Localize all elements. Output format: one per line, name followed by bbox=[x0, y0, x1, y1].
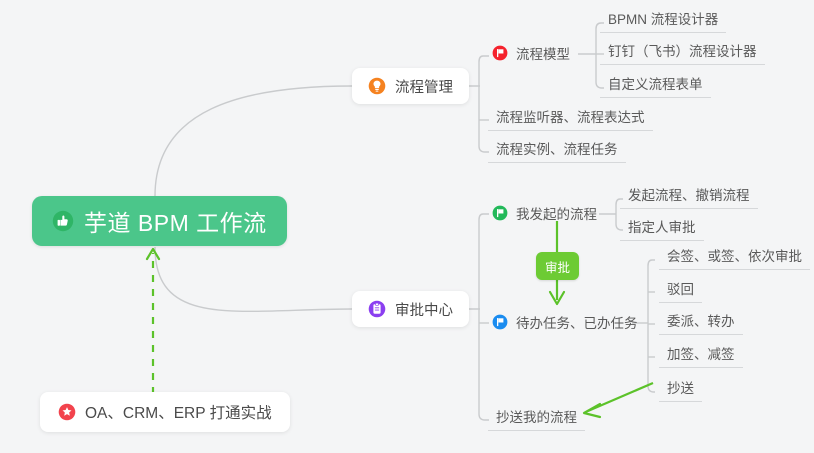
branch-node-process-management[interactable]: 流程管理 bbox=[352, 68, 469, 104]
star-icon bbox=[58, 403, 76, 421]
standalone-node-label: OA、CRM、ERP 打通实战 bbox=[85, 401, 272, 423]
node-todo-done-task[interactable]: 待办任务、已办任务 bbox=[492, 312, 638, 332]
trunk-approval-center bbox=[479, 214, 489, 420]
branch-label-approval-center: 审批中心 bbox=[395, 299, 453, 320]
node-process-model[interactable]: 流程模型 bbox=[492, 43, 570, 63]
leaf-dingtalk-feishu-designer[interactable]: 钉钉（飞书）流程设计器 bbox=[600, 45, 765, 65]
arrow-standalone-to-root bbox=[147, 249, 159, 394]
leaf-assignee-approval[interactable]: 指定人审批 bbox=[620, 221, 704, 241]
branch-label-process-management: 流程管理 bbox=[395, 76, 453, 97]
tag-approval-label: 审批 bbox=[545, 257, 570, 276]
leaf-custom-process-form[interactable]: 自定义流程表单 bbox=[600, 78, 711, 98]
flag-icon bbox=[492, 314, 508, 330]
branch-node-approval-center[interactable]: 审批中心 bbox=[352, 291, 469, 327]
tag-approval[interactable]: 审批 bbox=[536, 252, 579, 280]
arrow-cc-to-cc-my-process bbox=[584, 383, 653, 417]
trunk-process-management bbox=[479, 56, 489, 152]
link-root-to-process-management bbox=[155, 86, 352, 196]
leaf-process-listener-expression[interactable]: 流程监听器、流程表达式 bbox=[488, 111, 653, 131]
node-label-todo-done-task: 待办任务、已办任务 bbox=[516, 312, 638, 332]
leaf-cc[interactable]: 抄送 bbox=[659, 382, 702, 402]
standalone-node-oa-crm-erp[interactable]: OA、CRM、ERP 打通实战 bbox=[40, 392, 290, 432]
flag-icon bbox=[492, 205, 508, 221]
leaf-bpmn-designer[interactable]: BPMN 流程设计器 bbox=[600, 13, 726, 33]
leaf-cc-my-process[interactable]: 抄送我的流程 bbox=[488, 411, 585, 431]
leaf-reject[interactable]: 驳回 bbox=[659, 283, 702, 303]
flag-icon bbox=[492, 45, 508, 61]
thumbs-up-icon bbox=[52, 210, 74, 232]
lightbulb-icon bbox=[368, 77, 386, 95]
root-label: 芋道 BPM 工作流 bbox=[84, 204, 267, 238]
node-label-process-model: 流程模型 bbox=[516, 43, 570, 63]
node-label-my-initiated-process: 我发起的流程 bbox=[516, 203, 597, 223]
root-node[interactable]: 芋道 BPM 工作流 bbox=[32, 196, 287, 246]
mindmap-canvas: 芋道 BPM 工作流 OA、CRM、ERP 打通实战 流程管理 bbox=[0, 0, 814, 453]
leaf-process-instance-task[interactable]: 流程实例、流程任务 bbox=[488, 143, 626, 163]
clipboard-icon bbox=[368, 300, 386, 318]
leaf-start-cancel-process[interactable]: 发起流程、撤销流程 bbox=[620, 189, 758, 209]
leaf-add-remove-sign[interactable]: 加签、减签 bbox=[659, 348, 743, 368]
node-my-initiated-process[interactable]: 我发起的流程 bbox=[492, 203, 597, 223]
leaf-delegate-transfer[interactable]: 委派、转办 bbox=[659, 315, 743, 335]
trunk-todo-done bbox=[648, 260, 655, 392]
link-root-to-approval-center bbox=[155, 247, 352, 311]
leaf-countersign-orsign-sequential[interactable]: 会签、或签、依次审批 bbox=[659, 250, 810, 270]
